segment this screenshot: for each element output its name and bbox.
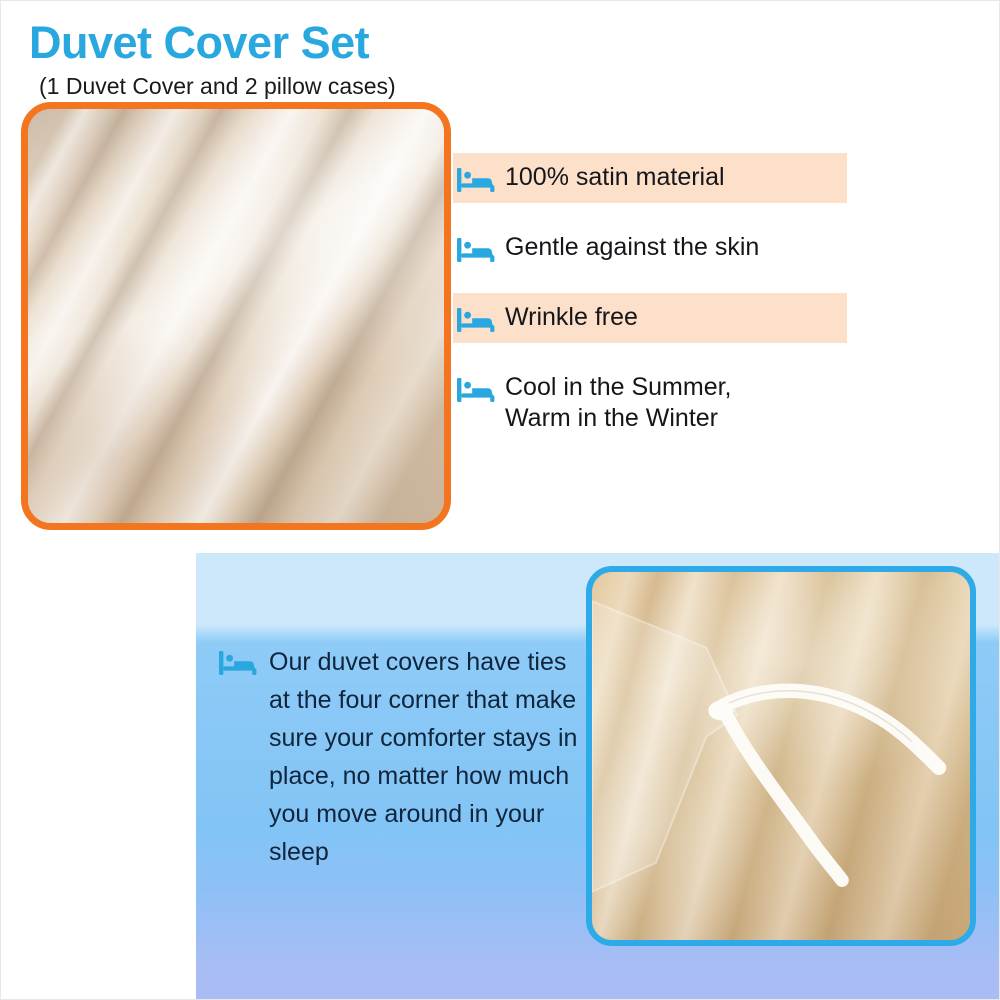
feature-item: Gentle against the skin	[453, 223, 847, 273]
page-title: Duvet Cover Set	[29, 17, 369, 69]
white-ribbon-ties	[592, 572, 970, 940]
bed-icon	[219, 650, 257, 676]
satin-fabric-photo	[21, 102, 451, 530]
feature-item-label: 100% satin material	[505, 162, 725, 193]
bed-icon	[457, 237, 495, 263]
feature-item-label: Wrinkle free	[505, 302, 638, 333]
tie-description-block: Our duvet covers have ties at the four c…	[219, 643, 579, 871]
infographic-canvas: Duvet Cover Set (1 Duvet Cover and 2 pil…	[0, 0, 1000, 1000]
feature-item-label: Gentle against the skin	[505, 232, 759, 263]
satin-sheen-overlay	[28, 109, 444, 523]
feature-list: 100% satin materialGentle against the sk…	[453, 153, 847, 442]
page-subtitle: (1 Duvet Cover and 2 pillow cases)	[39, 73, 396, 100]
tie-description-text: Our duvet covers have ties at the four c…	[269, 643, 579, 871]
feature-item-label: Cool in the Summer,Warm in the Winter	[505, 372, 732, 433]
feature-item: Wrinkle free	[453, 293, 847, 343]
duvet-tie-photo	[586, 566, 976, 946]
bed-icon	[457, 167, 495, 193]
feature-item: Cool in the Summer,Warm in the Winter	[453, 363, 847, 442]
feature-item: 100% satin material	[453, 153, 847, 203]
bed-icon	[457, 377, 495, 403]
bed-icon	[457, 307, 495, 333]
